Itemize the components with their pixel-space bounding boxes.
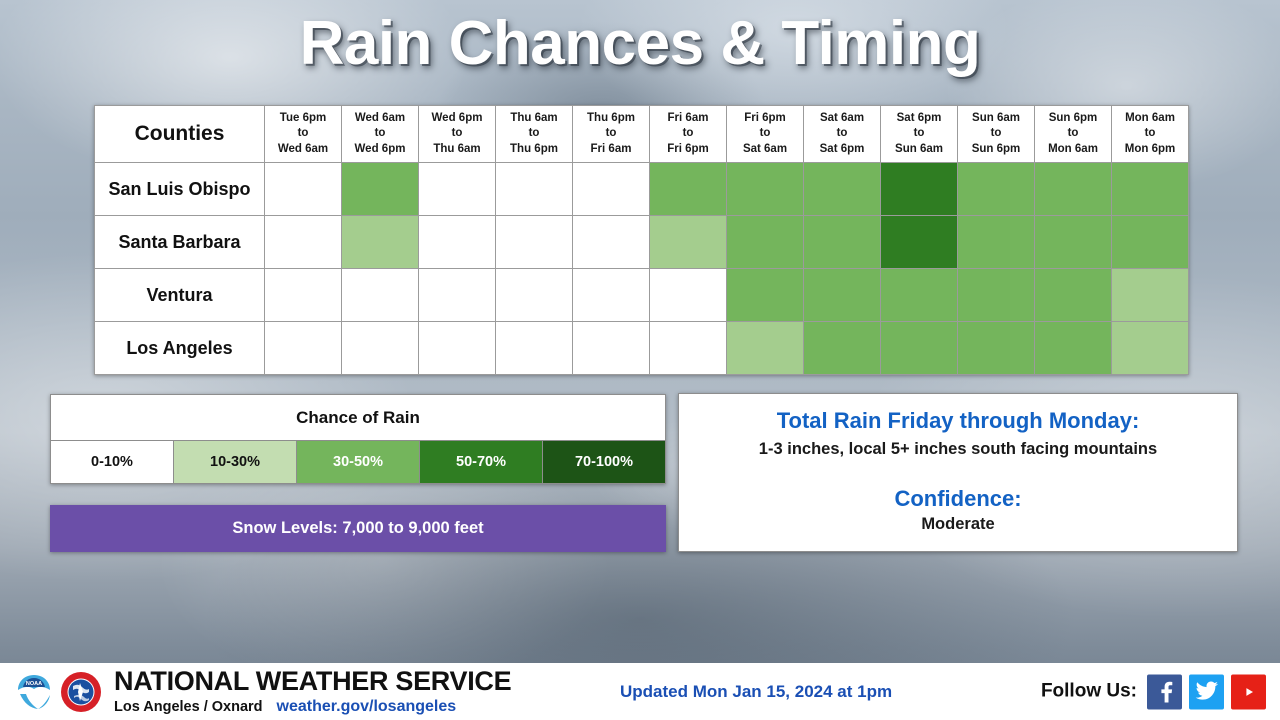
chance-cell-r2-c3 (419, 216, 496, 269)
period-end: Wed 6pm (342, 142, 418, 157)
period-start: Wed 6pm (419, 111, 495, 126)
agency-logos: NOAA (14, 672, 101, 712)
chance-cell-r3-c8 (804, 269, 881, 322)
period-connector: to (727, 126, 803, 141)
chance-cell-r1-c6 (650, 163, 727, 216)
noaa-logo-icon: NOAA (14, 672, 54, 712)
period-connector: to (265, 126, 341, 141)
period-start: Thu 6am (496, 111, 572, 126)
chance-cell-r4-c10 (958, 322, 1035, 375)
chance-cell-r1-c9 (881, 163, 958, 216)
table-row: Santa Barbara (95, 216, 1189, 269)
period-start: Fri 6am (650, 111, 726, 126)
period-end: Sun 6am (881, 142, 957, 157)
period-header-6: Fri 6amtoFri 6pm (650, 106, 727, 163)
chance-cell-r2-c10 (958, 216, 1035, 269)
period-start: Sun 6am (958, 111, 1034, 126)
period-header-3: Wed 6pmtoThu 6am (419, 106, 496, 163)
agency-subline: Los Angeles / Oxnard weather.gov/losange… (114, 698, 511, 716)
office-name: Los Angeles / Oxnard (114, 699, 263, 715)
chance-cell-r3-c11 (1035, 269, 1112, 322)
period-end: Thu 6pm (496, 142, 572, 157)
county-label-santa-barbara: Santa Barbara (95, 216, 265, 269)
chance-cell-r1-c11 (1035, 163, 1112, 216)
chance-cell-r1-c10 (958, 163, 1035, 216)
period-connector: to (958, 126, 1034, 141)
chance-cell-r1-c2 (342, 163, 419, 216)
period-header-8: Sat 6amtoSat 6pm (804, 106, 881, 163)
chance-cell-r1-c5 (573, 163, 650, 216)
confidence-value: Moderate (679, 515, 1237, 534)
period-start: Fri 6pm (727, 111, 803, 126)
period-header-4: Thu 6amtoThu 6pm (496, 106, 573, 163)
chance-cell-r2-c1 (265, 216, 342, 269)
period-header-5: Thu 6pmtoFri 6am (573, 106, 650, 163)
legend-scale: 0-10%10-30%30-50%50-70%70-100% (51, 441, 665, 483)
svg-text:NOAA: NOAA (26, 681, 42, 687)
chance-cell-r3-c5 (573, 269, 650, 322)
period-start: Sat 6pm (881, 111, 957, 126)
period-header-10: Sun 6amtoSun 6pm (958, 106, 1035, 163)
period-end: Sat 6am (727, 142, 803, 157)
table-body: San Luis ObispoSanta BarbaraVenturaLos A… (95, 163, 1189, 375)
chance-cell-r2-c4 (496, 216, 573, 269)
chance-cell-r4-c1 (265, 322, 342, 375)
counties-header: Counties (95, 106, 265, 163)
chance-cell-r3-c10 (958, 269, 1035, 322)
chance-cell-r1-c12 (1112, 163, 1189, 216)
chance-cell-r4-c5 (573, 322, 650, 375)
follow-us-label: Follow Us: (1041, 681, 1137, 703)
period-start: Thu 6pm (573, 111, 649, 126)
chance-cell-r3-c1 (265, 269, 342, 322)
chance-cell-r3-c4 (496, 269, 573, 322)
period-start: Sun 6pm (1035, 111, 1111, 126)
county-label-san-luis-obispo: San Luis Obispo (95, 163, 265, 216)
agency-name: NATIONAL WEATHER SERVICE (114, 668, 511, 695)
period-end: Mon 6am (1035, 142, 1111, 157)
period-header-12: Mon 6amtoMon 6pm (1112, 106, 1189, 163)
table-row: Ventura (95, 269, 1189, 322)
chance-cell-r3-c7 (727, 269, 804, 322)
county-label-los-angeles: Los Angeles (95, 322, 265, 375)
nws-seal-icon (61, 672, 101, 712)
legend-title: Chance of Rain (51, 395, 665, 441)
chance-cell-r2-c7 (727, 216, 804, 269)
period-end: Wed 6am (265, 142, 341, 157)
chance-cell-r4-c4 (496, 322, 573, 375)
period-header-11: Sun 6pmtoMon 6am (1035, 106, 1112, 163)
chance-of-rain-legend: Chance of Rain 0-10%10-30%30-50%50-70%70… (50, 394, 666, 484)
chance-cell-r4-c6 (650, 322, 727, 375)
chance-cell-r2-c2 (342, 216, 419, 269)
county-label-ventura: Ventura (95, 269, 265, 322)
chance-cell-r1-c4 (496, 163, 573, 216)
period-connector: to (804, 126, 880, 141)
period-start: Wed 6am (342, 111, 418, 126)
period-end: Fri 6am (573, 142, 649, 157)
chance-cell-r4-c3 (419, 322, 496, 375)
table-header-row: Counties Tue 6pmtoWed 6amWed 6amtoWed 6p… (95, 106, 1189, 163)
chance-cell-r3-c3 (419, 269, 496, 322)
chance-cell-r1-c8 (804, 163, 881, 216)
period-header-9: Sat 6pmtoSun 6am (881, 106, 958, 163)
chance-cell-r1-c7 (727, 163, 804, 216)
chance-cell-r4-c2 (342, 322, 419, 375)
period-connector: to (1035, 126, 1111, 141)
chance-cell-r2-c11 (1035, 216, 1112, 269)
period-connector: to (496, 126, 572, 141)
chance-cell-r4-c9 (881, 322, 958, 375)
table-row: Los Angeles (95, 322, 1189, 375)
chance-cell-r4-c7 (727, 322, 804, 375)
legend-swatch-4: 50-70% (420, 441, 543, 483)
chance-cell-r3-c12 (1112, 269, 1189, 322)
twitter-icon[interactable] (1189, 674, 1224, 709)
legend-swatch-5: 70-100% (543, 441, 665, 483)
chance-cell-r3-c2 (342, 269, 419, 322)
chance-cell-r2-c9 (881, 216, 958, 269)
total-rain-value: 1-3 inches, local 5+ inches south facing… (679, 440, 1237, 459)
chance-cell-r3-c9 (881, 269, 958, 322)
period-connector: to (419, 126, 495, 141)
snow-levels-label: Snow Levels: 7,000 to 9,000 feet (232, 519, 483, 538)
youtube-icon[interactable] (1231, 674, 1266, 709)
confidence-heading: Confidence: (679, 485, 1237, 514)
period-start: Mon 6am (1112, 111, 1188, 126)
summary-panel: Total Rain Friday through Monday: 1-3 in… (678, 393, 1238, 552)
chance-cell-r2-c12 (1112, 216, 1189, 269)
period-start: Sat 6am (804, 111, 880, 126)
follow-us-group: Follow Us: (1041, 674, 1266, 709)
period-end: Sat 6pm (804, 142, 880, 157)
period-start: Tue 6pm (265, 111, 341, 126)
period-connector: to (573, 126, 649, 141)
chance-cell-r4-c11 (1035, 322, 1112, 375)
period-connector: to (1112, 126, 1188, 141)
period-end: Sun 6pm (958, 142, 1034, 157)
period-header-2: Wed 6amtoWed 6pm (342, 106, 419, 163)
period-header-7: Fri 6pmtoSat 6am (727, 106, 804, 163)
period-end: Mon 6pm (1112, 142, 1188, 157)
chance-cell-r2-c6 (650, 216, 727, 269)
total-rain-heading: Total Rain Friday through Monday: (679, 407, 1237, 436)
rain-timing-table: Counties Tue 6pmtoWed 6amWed 6amtoWed 6p… (94, 105, 1189, 375)
chance-cell-r4-c12 (1112, 322, 1189, 375)
facebook-icon[interactable] (1147, 674, 1182, 709)
snow-levels-bar: Snow Levels: 7,000 to 9,000 feet (50, 505, 666, 552)
period-connector: to (342, 126, 418, 141)
chance-cell-r2-c5 (573, 216, 650, 269)
legend-swatch-3: 30-50% (297, 441, 420, 483)
period-connector: to (881, 126, 957, 141)
updated-timestamp: Updated Mon Jan 15, 2024 at 1pm (620, 682, 892, 702)
chance-cell-r2-c8 (804, 216, 881, 269)
period-connector: to (650, 126, 726, 141)
agency-text: NATIONAL WEATHER SERVICE Los Angeles / O… (114, 668, 511, 716)
footer-bar: NOAA NATIONAL WEATHER SERVICE Los Angele… (0, 663, 1280, 720)
chance-cell-r3-c6 (650, 269, 727, 322)
chance-cell-r4-c8 (804, 322, 881, 375)
period-end: Fri 6pm (650, 142, 726, 157)
page-title: Rain Chances & Timing (0, 8, 1280, 79)
chance-cell-r1-c1 (265, 163, 342, 216)
period-header-1: Tue 6pmtoWed 6am (265, 106, 342, 163)
table-row: San Luis Obispo (95, 163, 1189, 216)
period-end: Thu 6am (419, 142, 495, 157)
legend-swatch-1: 0-10% (51, 441, 174, 483)
chance-cell-r1-c3 (419, 163, 496, 216)
legend-swatch-2: 10-30% (174, 441, 297, 483)
website-url[interactable]: weather.gov/losangeles (277, 698, 457, 716)
